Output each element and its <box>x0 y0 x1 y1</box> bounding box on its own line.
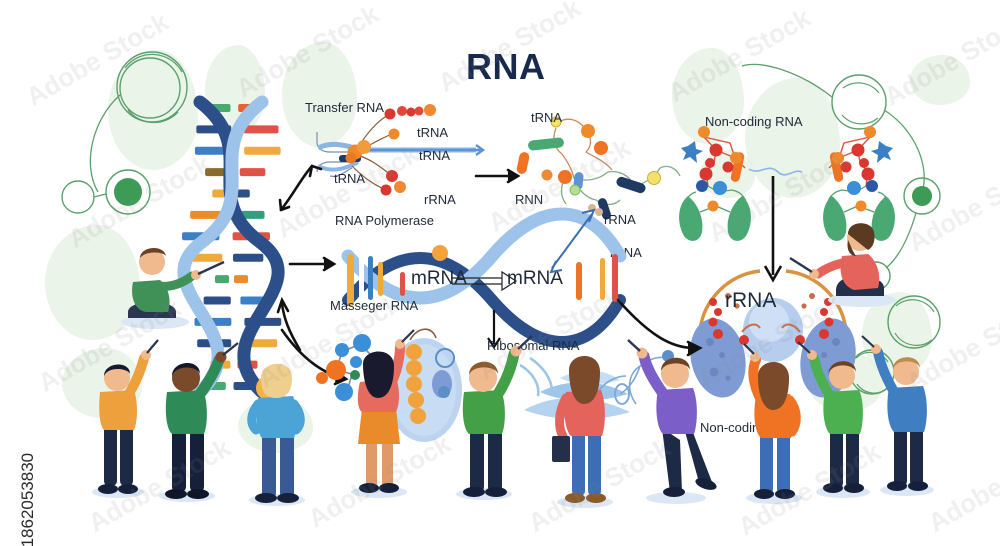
person-standing-blue <box>249 364 305 506</box>
person-standing-green-3 <box>798 342 870 498</box>
person-kneeling-right <box>790 223 896 307</box>
person-standing-red-bag <box>552 356 613 508</box>
person-standing-green-2 <box>456 336 532 500</box>
person-kneeling-left <box>121 248 224 329</box>
adobe-stock-id-watermark: Adobe Stock | #1862053830 <box>18 453 38 546</box>
person-standing-purple <box>628 340 718 504</box>
person-standing-orange <box>92 340 158 498</box>
person-standing-coral <box>351 330 414 498</box>
person-standing-green <box>159 343 238 502</box>
rna-infographic: RNA <box>0 0 1000 546</box>
person-standing-orange-2 <box>744 344 802 504</box>
people-figures-layer <box>0 0 1000 546</box>
person-standing-blue-2 <box>862 336 934 496</box>
